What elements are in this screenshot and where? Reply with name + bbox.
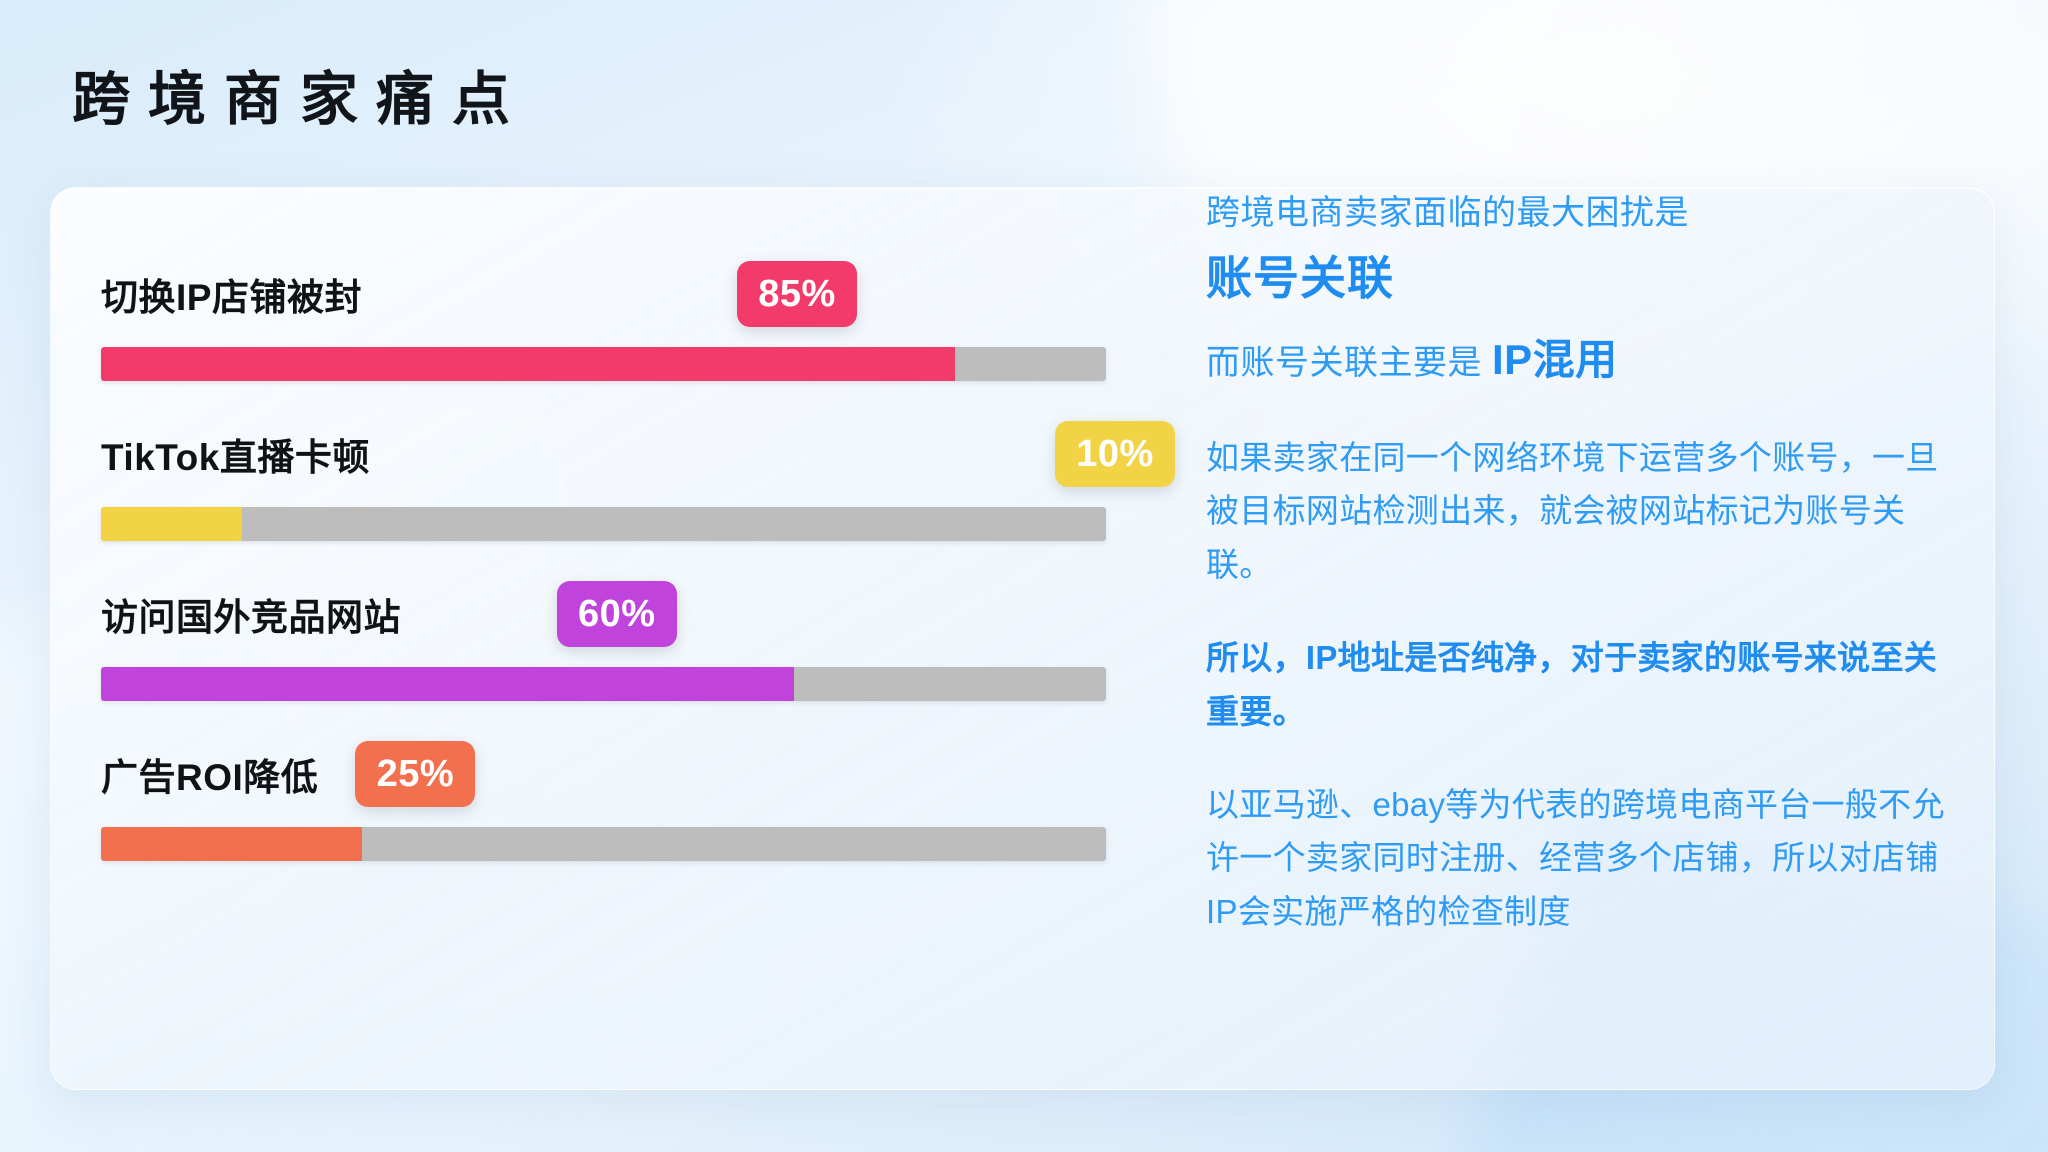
bar-fill (101, 347, 955, 381)
bar-fill (101, 827, 362, 861)
bar-group: 访问国外竞品网站 60% (101, 563, 1161, 723)
bar-track (101, 507, 1106, 541)
bar-value-badge: 60% (557, 581, 677, 647)
bar-label: 切换IP店铺被封 (101, 267, 362, 321)
bar-value-badge: 85% (737, 261, 857, 327)
bar-label: 广告ROI降低 (101, 747, 318, 801)
paragraph-3: 以亚马逊、ebay等为代表的跨境电商平台一般不允许一个卖家同时注册、经营多个店铺… (1206, 778, 1966, 938)
pain-point-bar-chart: 切换IP店铺被封 85% TikTok直播卡顿 10% 访问国外竞品网站 60% (101, 243, 1161, 883)
bar-value-badge: 25% (355, 741, 475, 807)
bar-label: TikTok直播卡顿 (101, 427, 370, 481)
content-card: 切换IP店铺被封 85% TikTok直播卡顿 10% 访问国外竞品网站 60% (50, 187, 1995, 1090)
bar-value-badge: 10% (1055, 421, 1175, 487)
lead-mix-line: 而账号关联主要是IP混用 (1206, 328, 1966, 391)
bar-group: 广告ROI降低 25% (101, 723, 1161, 883)
lead-mix-keyword: IP混用 (1492, 336, 1618, 383)
bar-header: 访问国外竞品网站 60% (101, 563, 1161, 655)
bar-header: 广告ROI降低 25% (101, 723, 1161, 815)
bar-track (101, 347, 1106, 381)
paragraph-1: 如果卖家在同一个网络环境下运营多个账号，一旦被目标网站检测出来，就会被网站标记为… (1206, 431, 1966, 591)
lead-keyword: 账号关联 (1206, 245, 1966, 312)
bar-label: 访问国外竞品网站 (101, 587, 401, 641)
bar-group: TikTok直播卡顿 10% (101, 403, 1161, 563)
bar-track (101, 827, 1106, 861)
lead-line: 跨境电商卖家面临的最大困扰是 (1206, 188, 1966, 239)
bar-fill (101, 507, 242, 541)
bar-group: 切换IP店铺被封 85% (101, 243, 1161, 403)
explanation-panel: 跨境电商卖家面临的最大困扰是 账号关联 而账号关联主要是IP混用 如果卖家在同一… (1206, 188, 1966, 938)
lead-mix-prefix: 而账号关联主要是 (1206, 344, 1482, 382)
bar-track (101, 667, 1106, 701)
paragraph-2: 所以，IP地址是否纯净，对于卖家的账号来说至关重要。 (1206, 631, 1966, 738)
bar-fill (101, 667, 794, 701)
page-title: 跨境商家痛点 (72, 52, 528, 136)
bar-header: TikTok直播卡顿 10% (101, 403, 1161, 495)
bar-header: 切换IP店铺被封 85% (101, 243, 1161, 335)
